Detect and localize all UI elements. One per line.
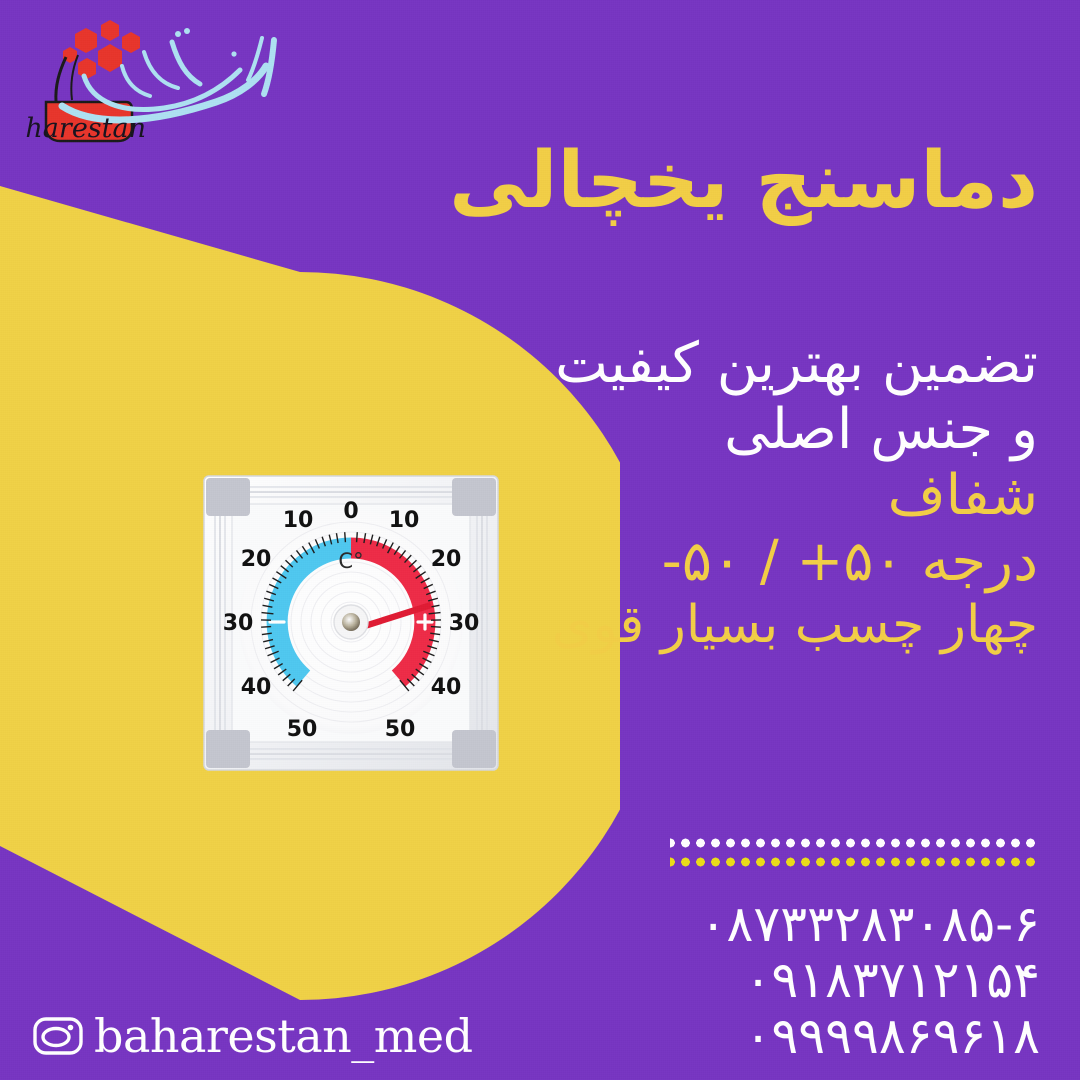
dotted-divider-yellow xyxy=(670,857,1038,867)
instagram-link[interactable]: baharestan_med xyxy=(32,1010,473,1062)
instagram-handle: baharestan_med xyxy=(94,1013,473,1059)
dial-label-minus-40: 40 xyxy=(241,675,272,700)
dial-label-0: 0 xyxy=(343,499,358,524)
dial-label-plus-10: 10 xyxy=(389,508,420,533)
feature-item-transparent: شفاف xyxy=(448,463,1038,529)
copy-column: دماسنج یخچالی تضمین بهترین کیفیت و جنس ا… xyxy=(448,140,1038,656)
feature-item-adhesive: چهار چسب بسیار قوی xyxy=(448,595,1038,656)
phone-landline[interactable]: ۰۸۷۳۳۲۸۳۰۸۵-۶ xyxy=(700,896,1040,952)
contact-phone-list: ۰۸۷۳۳۲۸۳۰۸۵-۶ ۰۹۱۸۳۷۱۲۱۵۴ ۰۹۹۹۹۸۶۹۶۱۸ xyxy=(700,896,1040,1064)
dial-label-minus-20: 20 xyxy=(241,547,272,572)
feature-item-quality: تضمین بهترین کیفیت xyxy=(448,331,1038,397)
dial-label-plus-50: 50 xyxy=(385,717,416,742)
feature-item-range: درجه ۵۰+ / ۵۰- xyxy=(448,529,1038,595)
baharestan-flask-logo: Baharestan xyxy=(26,10,296,145)
feature-list: تضمین بهترین کیفیت و جنس اصلی شفاف درجه … xyxy=(448,331,1038,657)
phone-mobile-1[interactable]: ۰۹۱۸۳۷۱۲۱۵۴ xyxy=(700,952,1040,1008)
page-title: دماسنج یخچالی xyxy=(448,140,1038,223)
dotted-divider-white xyxy=(670,838,1038,848)
dial-label-minus-50: 50 xyxy=(287,717,318,742)
feature-item-genuine: و جنس اصلی xyxy=(448,397,1038,463)
dial-label-minus-10: 10 xyxy=(283,508,314,533)
poster-canvas: Baharestan xyxy=(0,0,1080,1080)
svg-text:Baharestan: Baharestan xyxy=(26,113,146,144)
dial-label-plus-40: 40 xyxy=(431,675,462,700)
phone-mobile-2[interactable]: ۰۹۹۹۹۸۶۹۶۱۸ xyxy=(700,1008,1040,1064)
dial-unit-label: °C xyxy=(338,549,363,573)
divider-group xyxy=(670,838,1038,876)
instagram-icon xyxy=(32,1010,84,1062)
dial-label-minus-30: 30 xyxy=(223,611,254,636)
